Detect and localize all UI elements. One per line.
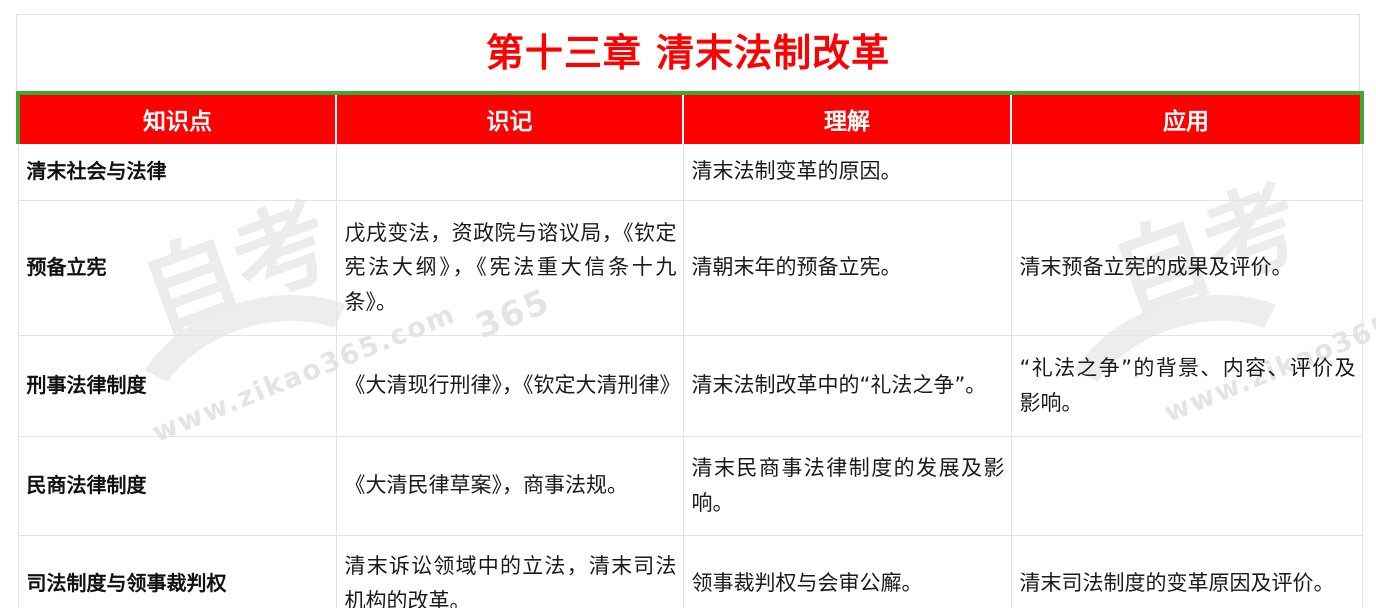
cell-apply — [1011, 436, 1362, 535]
cell-memorize: 戊戌变法，资政院与谘议局，《钦定宪法大纲》，《宪法重大信条十九条》。 — [336, 200, 683, 335]
column-header-memorize: 识记 — [336, 93, 683, 143]
column-header-understand: 理解 — [683, 93, 1011, 143]
cell-apply — [1011, 143, 1362, 200]
cell-understand: 清朝末年的预备立宪。 — [683, 200, 1011, 335]
table-row: 民商法律制度 《大清民律草案》，商事法规。 清末民商事法律制度的发展及影响。 — [18, 436, 1362, 535]
cell-knowledge-point: 清末社会与法律 — [18, 143, 336, 200]
cell-knowledge-point: 刑事法律制度 — [18, 335, 336, 436]
knowledge-table: 知识点 识记 理解 应用 清末社会与法律 清末法制变革的原因。 预备立宪 戊戌变… — [16, 91, 1364, 608]
cell-knowledge-point: 预备立宪 — [18, 200, 336, 335]
cell-memorize: 清末诉讼领域中的立法，清末司法机构的改革。 — [336, 535, 683, 608]
cell-understand: 领事裁判权与会审公廨。 — [683, 535, 1011, 608]
cell-understand: 清末法制变革的原因。 — [683, 143, 1011, 200]
table-row: 刑事法律制度 《大清现行刑律》，《钦定大清刑律》 清末法制改革中的“礼法之争”。… — [18, 335, 1362, 436]
cell-apply: 清末司法制度的变革原因及评价。 — [1011, 535, 1362, 608]
cell-memorize — [336, 143, 683, 200]
table-header-row: 知识点 识记 理解 应用 — [18, 93, 1362, 143]
table-header: 知识点 识记 理解 应用 — [18, 93, 1362, 143]
table-row: 预备立宪 戊戌变法，资政院与谘议局，《钦定宪法大纲》，《宪法重大信条十九条》。 … — [18, 200, 1362, 335]
cell-understand: 清末法制改革中的“礼法之争”。 — [683, 335, 1011, 436]
table-row: 清末社会与法律 清末法制变革的原因。 — [18, 143, 1362, 200]
cell-understand: 清末民商事法律制度的发展及影响。 — [683, 436, 1011, 535]
document-page: 第十三章 清末法制改革 知识点 识记 理解 应用 清末社会与法律 清末法制变革的… — [0, 0, 1376, 608]
page-title: 第十三章 清末法制改革 — [486, 34, 890, 72]
column-header-knowledge-point: 知识点 — [18, 93, 336, 143]
cell-apply: “礼法之争”的背景、内容、评价及影响。 — [1011, 335, 1362, 436]
column-header-apply: 应用 — [1011, 93, 1362, 143]
cell-knowledge-point: 司法制度与领事裁判权 — [18, 535, 336, 608]
cell-knowledge-point: 民商法律制度 — [18, 436, 336, 535]
table-body: 清末社会与法律 清末法制变革的原因。 预备立宪 戊戌变法，资政院与谘议局，《钦定… — [18, 143, 1362, 608]
cell-apply: 清末预备立宪的成果及评价。 — [1011, 200, 1362, 335]
cell-memorize: 《大清民律草案》，商事法规。 — [336, 436, 683, 535]
cell-memorize: 《大清现行刑律》，《钦定大清刑律》 — [336, 335, 683, 436]
table-row: 司法制度与领事裁判权 清末诉讼领域中的立法，清末司法机构的改革。 领事裁判权与会… — [18, 535, 1362, 608]
title-band: 第十三章 清末法制改革 — [16, 14, 1360, 91]
